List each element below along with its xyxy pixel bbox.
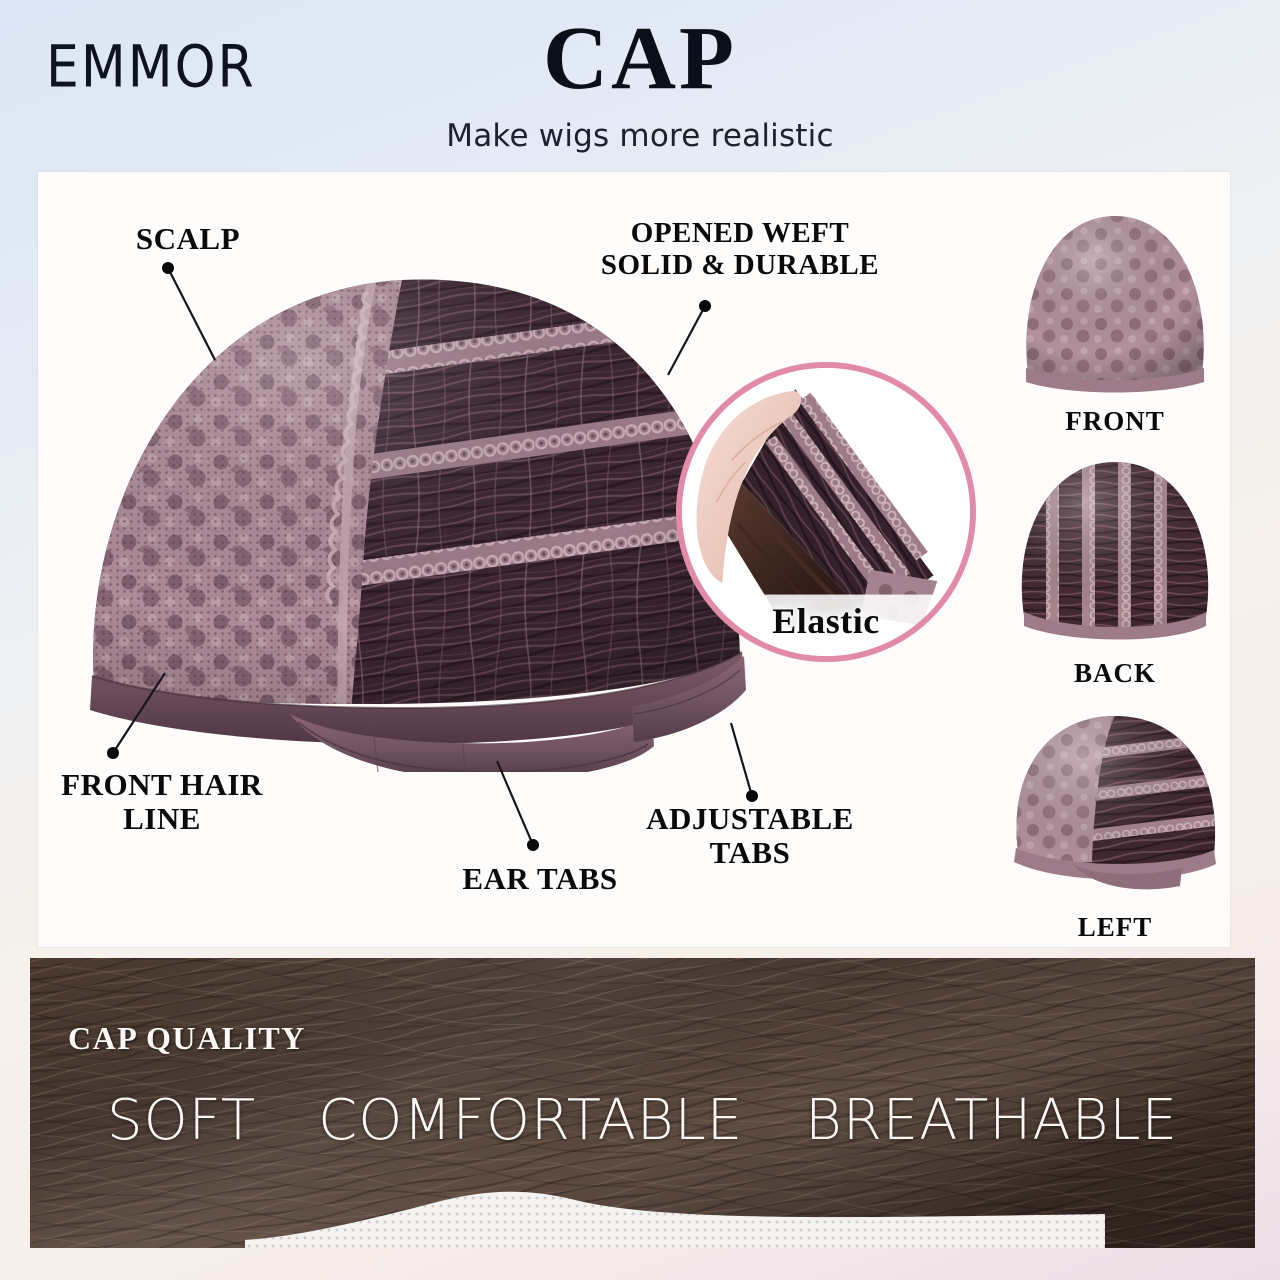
thumbnail-front: FRONT <box>990 196 1240 437</box>
thumbnail-front-caption: FRONT <box>990 406 1240 437</box>
feature-list: SOFT COMFORTABLE BREATHABLE <box>30 1088 1255 1153</box>
thumbnail-back-caption: BACK <box>990 658 1240 689</box>
cap-view-thumbnails: FRONT <box>990 196 1240 926</box>
label-front-hair-line: FRONT HAIR LINE <box>32 768 292 836</box>
quality-banner: CAP QUALITY SOFT COMFORTABLE BREATHABLE <box>30 958 1255 1248</box>
elastic-callout-label: Elastic <box>682 600 970 642</box>
feature-soft: SOFT <box>107 1088 256 1153</box>
thumbnail-left: LEFT <box>990 702 1240 943</box>
thumbnail-left-caption: LEFT <box>990 912 1240 943</box>
thumbnail-left-image <box>990 702 1240 910</box>
lace-mesh-graphic <box>245 1178 1105 1248</box>
feature-breathable: BREATHABLE <box>805 1088 1178 1153</box>
label-adjustable-tabs: ADJUSTABLE TABS <box>620 802 880 870</box>
feature-comfortable: COMFORTABLE <box>318 1088 743 1153</box>
cap-quality-heading: CAP QUALITY <box>68 1020 306 1057</box>
elastic-callout: Elastic <box>676 362 976 662</box>
label-scalp: SCALP <box>78 222 298 256</box>
thumbnail-back: BACK <box>990 448 1240 689</box>
lace-mesh-strip <box>245 1178 1105 1248</box>
thumbnail-front-image <box>990 196 1240 404</box>
thumbnail-back-image <box>990 448 1240 656</box>
label-opened-weft: OPENED WEFT SOLID & DURABLE <box>570 218 910 282</box>
